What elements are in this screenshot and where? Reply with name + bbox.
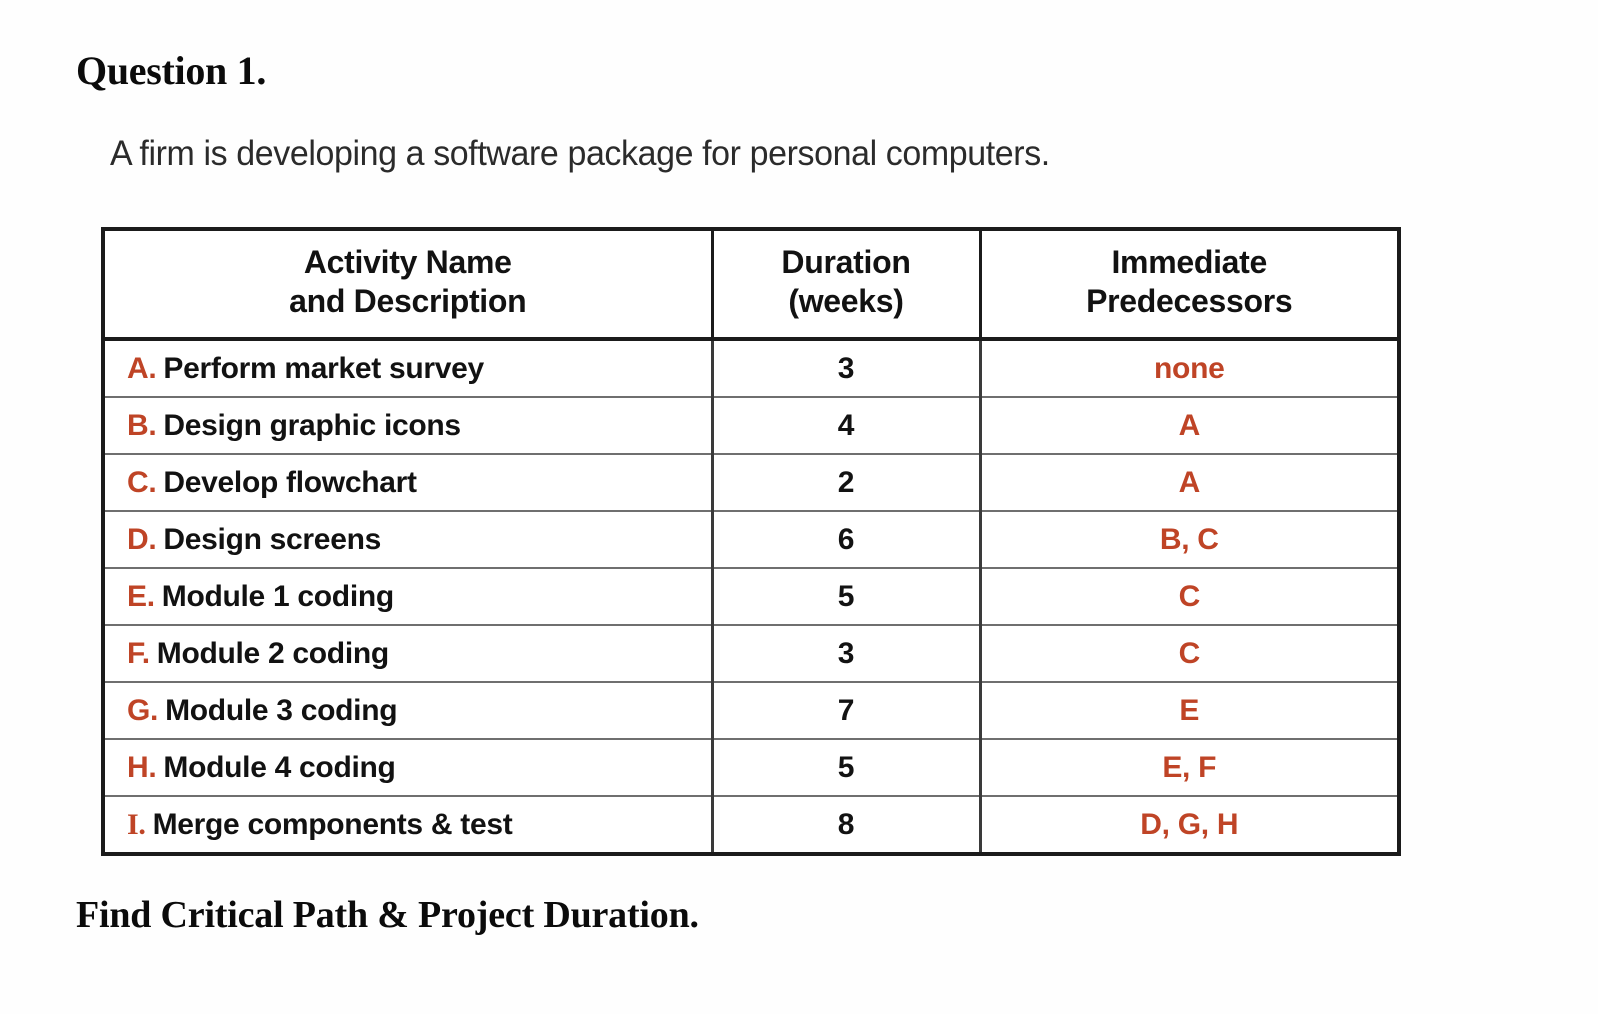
header-activity-name-line1: Activity Name (111, 243, 705, 282)
header-predecessors-line2: Predecessors (988, 282, 1392, 321)
intro-paragraph: A firm is developing a software package … (110, 134, 1050, 174)
activity-name-cell: G.Module 3 coding (105, 682, 712, 739)
activity-description: Perform market survey (163, 352, 484, 385)
duration-cell: 7 (712, 682, 980, 739)
table-row: F.Module 2 coding 3 C (105, 625, 1397, 682)
predecessors-cell: C (980, 625, 1397, 682)
activity-description: Module 3 coding (165, 694, 397, 727)
activity-description: Merge components & test (153, 808, 513, 841)
activity-letter: C. (127, 466, 156, 499)
activity-name-cell: F.Module 2 coding (105, 625, 712, 682)
activity-letter: D. (127, 523, 156, 556)
predecessors-cell: B, C (980, 511, 1397, 568)
activity-description: Design screens (163, 523, 381, 556)
activity-name-cell: D.Design screens (105, 511, 712, 568)
table-row: E.Module 1 coding 5 C (105, 568, 1397, 625)
column-header-duration: Duration (weeks) (712, 231, 980, 339)
activity-name-cell: B.Design graphic icons (105, 397, 712, 454)
activity-letter: G. (127, 694, 158, 727)
activity-name-cell: H.Module 4 coding (105, 739, 712, 796)
duration-cell: 6 (712, 511, 980, 568)
header-duration-line1: Duration (720, 243, 973, 282)
duration-cell: 4 (712, 397, 980, 454)
table-row: D.Design screens 6 B, C (105, 511, 1397, 568)
activity-description: Module 1 coding (162, 580, 394, 613)
activity-name-cell: C.Develop flowchart (105, 454, 712, 511)
activity-description: Design graphic icons (163, 409, 460, 442)
activity-description: Develop flowchart (163, 466, 416, 499)
activity-name-cell: A.Perform market survey (105, 339, 712, 397)
activity-letter: F. (127, 637, 150, 670)
predecessors-cell: E (980, 682, 1397, 739)
activity-table-container: Activity Name and Description Duration (… (101, 227, 1401, 856)
activity-letter: E. (127, 580, 155, 613)
header-activity-name-line2: and Description (111, 282, 705, 321)
table-row: I.Merge components & test 8 D, G, H (105, 796, 1397, 852)
table-row: G.Module 3 coding 7 E (105, 682, 1397, 739)
duration-cell: 3 (712, 339, 980, 397)
activity-letter: B. (127, 409, 156, 442)
activity-name-cell: I.Merge components & test (105, 796, 712, 852)
column-header-activity-name: Activity Name and Description (105, 231, 712, 339)
column-header-predecessors: Immediate Predecessors (980, 231, 1397, 339)
predecessors-cell: C (980, 568, 1397, 625)
predecessors-cell: A (980, 454, 1397, 511)
duration-cell: 2 (712, 454, 980, 511)
predecessors-cell: D, G, H (980, 796, 1397, 852)
duration-cell: 8 (712, 796, 980, 852)
activity-description: Module 4 coding (163, 751, 395, 784)
activity-description: Module 2 coding (157, 637, 389, 670)
header-predecessors-line1: Immediate (988, 243, 1392, 282)
activity-name-cell: E.Module 1 coding (105, 568, 712, 625)
predecessors-cell: E, F (980, 739, 1397, 796)
predecessors-cell: A (980, 397, 1397, 454)
table-row: C.Develop flowchart 2 A (105, 454, 1397, 511)
task-instruction: Find Critical Path & Project Duration. (76, 893, 699, 937)
activity-letter: I. (127, 808, 146, 841)
document-page: Question 1. A firm is developing a softw… (0, 0, 1598, 1014)
table-body: A.Perform market survey 3 none B.Design … (105, 339, 1397, 852)
activity-table: Activity Name and Description Duration (… (105, 231, 1397, 852)
table-header: Activity Name and Description Duration (… (105, 231, 1397, 339)
header-row: Activity Name and Description Duration (… (105, 231, 1397, 339)
duration-cell: 3 (712, 625, 980, 682)
table-row: B.Design graphic icons 4 A (105, 397, 1397, 454)
duration-cell: 5 (712, 568, 980, 625)
activity-letter: H. (127, 751, 156, 784)
header-duration-line2: (weeks) (720, 282, 973, 321)
table-row: A.Perform market survey 3 none (105, 339, 1397, 397)
page-title: Question 1. (76, 47, 266, 94)
table-row: H.Module 4 coding 5 E, F (105, 739, 1397, 796)
duration-cell: 5 (712, 739, 980, 796)
predecessors-cell: none (980, 339, 1397, 397)
activity-letter: A. (127, 352, 156, 385)
